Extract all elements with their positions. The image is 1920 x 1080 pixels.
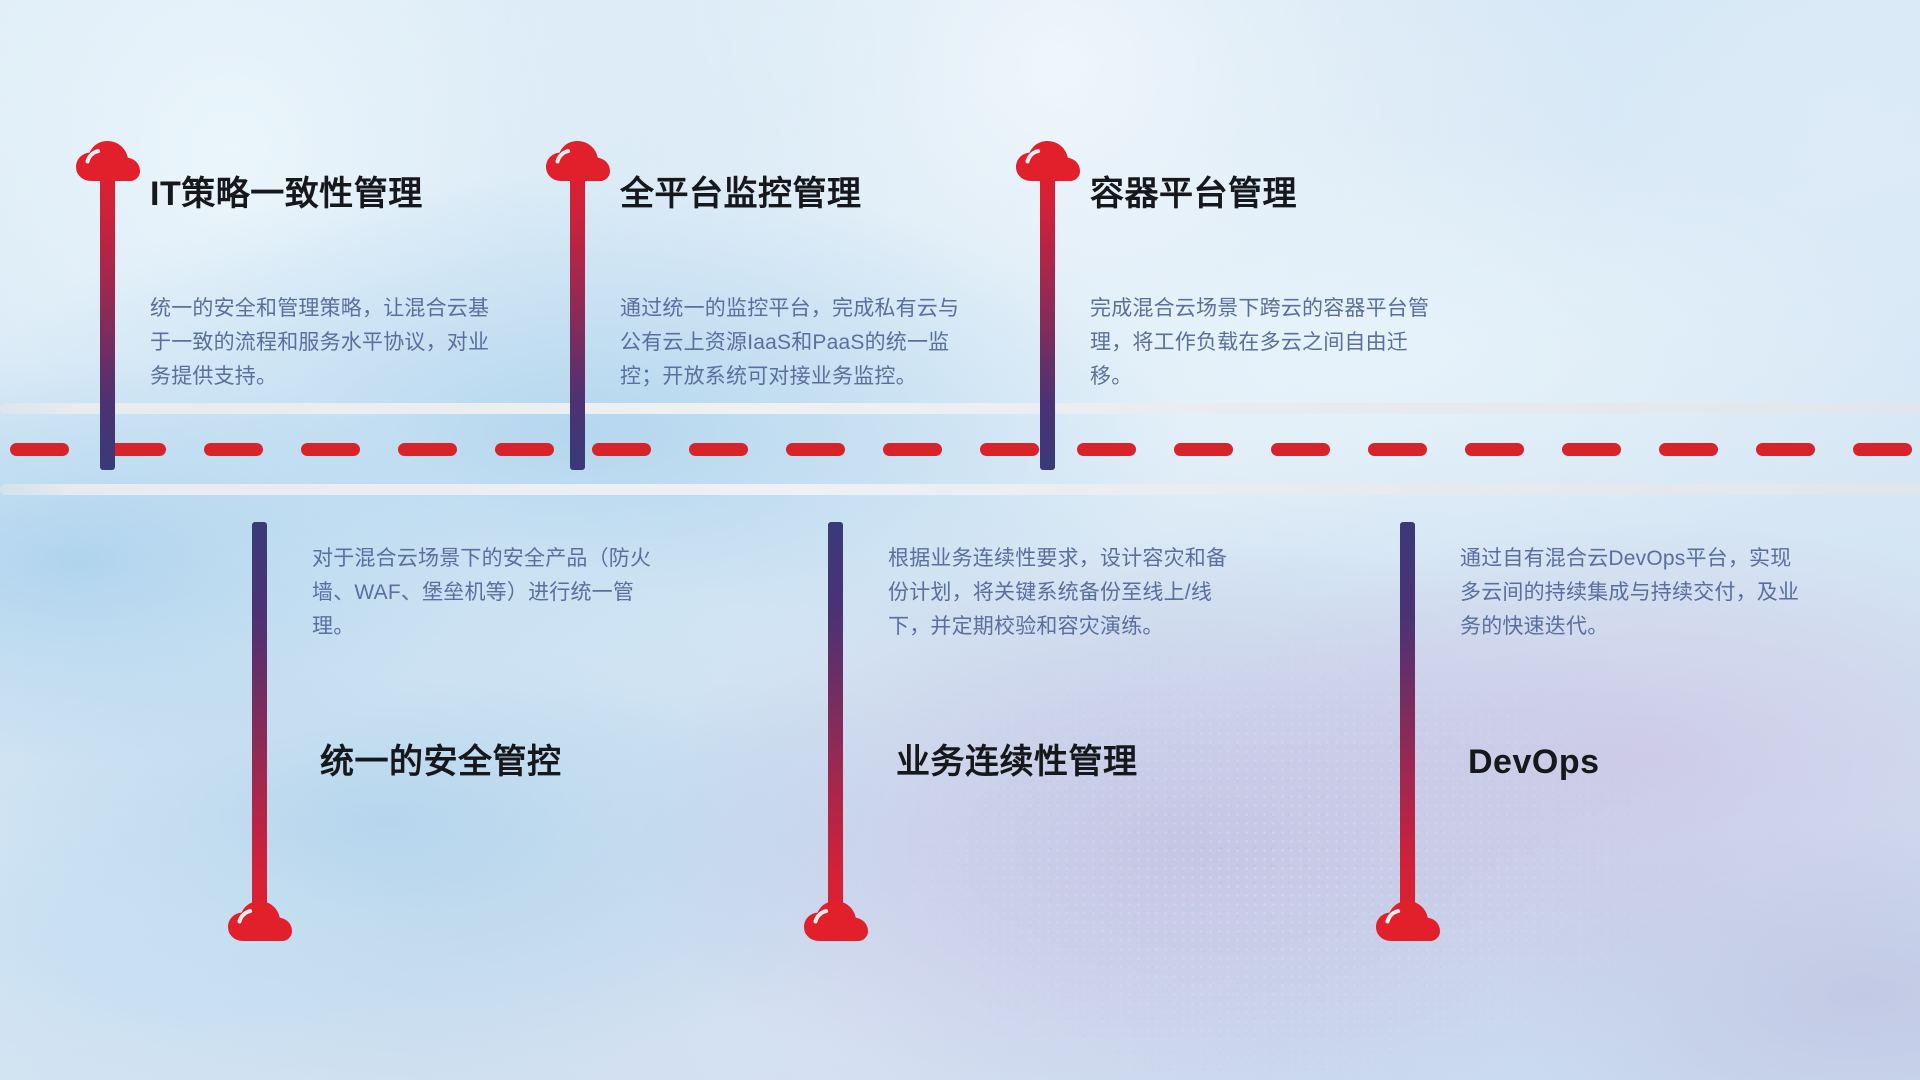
cloud-icon bbox=[1374, 900, 1442, 942]
pin-marker-top-3 bbox=[1040, 140, 1056, 470]
road-dash bbox=[786, 443, 845, 456]
feature-description: 对于混合云场景下的安全产品（防火墙、WAF、堡垒机等）进行统一管理。 bbox=[312, 542, 664, 644]
pin-stem bbox=[1040, 162, 1055, 470]
road-rail-bottom bbox=[0, 484, 1920, 495]
pin-marker-top-1 bbox=[100, 140, 116, 470]
road-dash bbox=[1174, 443, 1233, 456]
pin-marker-bottom-2 bbox=[828, 522, 844, 942]
road-dash bbox=[398, 443, 457, 456]
feature-title: IT策略一致性管理 bbox=[150, 176, 423, 213]
road-dashed-center-line bbox=[0, 443, 1920, 456]
cloud-icon bbox=[1014, 140, 1082, 182]
road-dash bbox=[1368, 443, 1427, 456]
road-dash bbox=[10, 443, 69, 456]
cloud-icon bbox=[74, 140, 142, 182]
road-dash bbox=[1271, 443, 1330, 456]
feature-description: 通过统一的监控平台，完成私有云与公有云上资源IaaS和PaaS的统一监控；开放系… bbox=[620, 292, 976, 394]
road-dash bbox=[1465, 443, 1524, 456]
road-dash bbox=[301, 443, 360, 456]
feature-description: 完成混合云场景下跨云的容器平台管理，将工作负载在多云之间自由迁移。 bbox=[1090, 292, 1442, 394]
pin-stem bbox=[252, 522, 267, 920]
infographic-canvas: IT策略一致性管理 统一的安全和管理策略，让混合云基于一致的流程和服务水平协议，… bbox=[0, 0, 1920, 1080]
feature-description: 统一的安全和管理策略，让混合云基于一致的流程和服务水平协议，对业务提供支持。 bbox=[150, 292, 498, 394]
feature-title: 业务连续性管理 bbox=[896, 744, 1138, 781]
road-dash bbox=[1659, 443, 1718, 456]
feature-title: 全平台监控管理 bbox=[620, 176, 862, 213]
feature-title: 容器平台管理 bbox=[1090, 176, 1297, 213]
feature-description: 通过自有混合云DevOps平台，实现多云间的持续集成与持续交付，及业务的快速迭代… bbox=[1460, 542, 1812, 644]
road-dash bbox=[204, 443, 263, 456]
pin-marker-bottom-1 bbox=[252, 522, 268, 942]
pin-marker-top-2 bbox=[570, 140, 586, 470]
road-dash bbox=[689, 443, 748, 456]
cloud-icon bbox=[226, 900, 294, 942]
feature-title: 统一的安全管控 bbox=[320, 744, 562, 781]
pin-stem bbox=[570, 162, 585, 470]
pin-marker-bottom-3 bbox=[1400, 522, 1416, 942]
road-dash bbox=[1756, 443, 1815, 456]
road-dash bbox=[1077, 443, 1136, 456]
road-dash bbox=[1562, 443, 1621, 456]
feature-title: DevOps bbox=[1468, 744, 1600, 781]
road-dash bbox=[495, 443, 554, 456]
road-rail-top bbox=[0, 403, 1920, 414]
pin-stem bbox=[100, 162, 115, 470]
road-dash bbox=[592, 443, 651, 456]
pin-stem bbox=[828, 522, 843, 920]
road-dash bbox=[1853, 443, 1912, 456]
road-dash bbox=[980, 443, 1039, 456]
pin-stem bbox=[1400, 522, 1415, 920]
road-dash bbox=[883, 443, 942, 456]
feature-description: 根据业务连续性要求，设计容灾和备份计划，将关键系统备份至线上/线下，并定期校验和… bbox=[888, 542, 1240, 644]
cloud-icon bbox=[802, 900, 870, 942]
cloud-icon bbox=[544, 140, 612, 182]
